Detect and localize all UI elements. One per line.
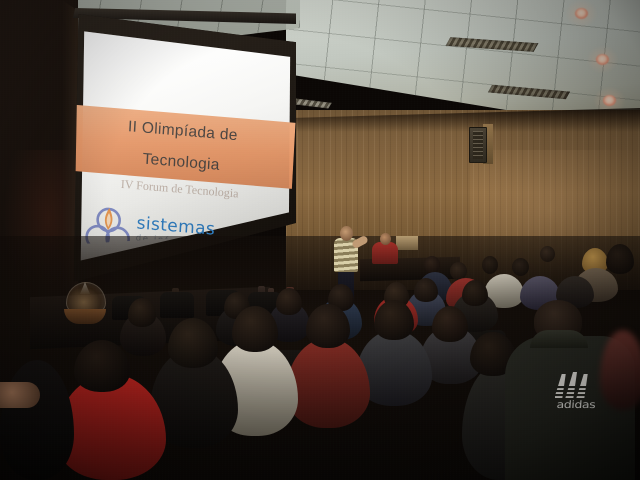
audience-head (276, 288, 302, 315)
adidas-trefoil-shape (555, 372, 595, 398)
audience-head (414, 278, 438, 302)
photo-scene: II Olimpíada de Tecnologia IV Forum de T… (0, 0, 640, 480)
ceiling-downlight (575, 8, 588, 19)
audience-head (128, 298, 156, 327)
panelist-torso (372, 242, 398, 264)
adidas-wordmark: adidas (551, 398, 602, 410)
audience-head (540, 246, 555, 262)
presenter-head (340, 226, 353, 241)
audience-head (482, 256, 498, 274)
audience-head (512, 258, 529, 276)
gift-basket (62, 284, 108, 324)
ceiling-downlight (603, 95, 616, 106)
seat-back (160, 292, 194, 318)
adidas-trefoil-icon: adidas (549, 372, 601, 418)
ceiling-downlight (596, 54, 609, 65)
panelist-head (380, 233, 391, 245)
audience-head (606, 244, 634, 274)
audience-arm (0, 382, 40, 408)
table-box (396, 236, 418, 250)
audience-head (462, 280, 488, 306)
basket-bowl (64, 309, 106, 324)
audience-head (432, 306, 468, 342)
wall-speaker-icon (469, 127, 487, 163)
jacket-collar (530, 330, 588, 348)
speaker-grill (473, 131, 483, 159)
audience-head (424, 256, 440, 273)
